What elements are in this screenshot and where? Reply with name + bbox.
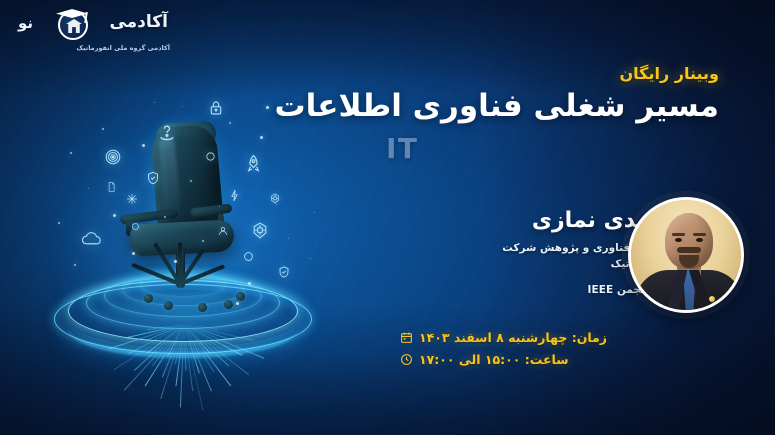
sparkle <box>182 106 183 107</box>
schedule-block: زمان: چهارشنبه ۸ اسفند ۱۴۰۳ساعت: ۱۵:۰۰ ا… <box>400 330 607 374</box>
kicker-free-webinar: وبینار رایگان <box>620 64 719 83</box>
schedule-line: ساعت: ۱۵:۰۰ الی ۱۷:۰۰ <box>400 352 607 367</box>
avatar-brow <box>693 233 706 236</box>
rocket-icon <box>246 154 261 173</box>
sparkle <box>266 106 269 109</box>
graduation-cap-icon <box>52 4 92 20</box>
logo-word-left: نو <box>18 14 33 32</box>
office-chair <box>106 126 256 316</box>
schedule-text: ساعت: ۱۵:۰۰ الی ۱۷:۰۰ <box>419 352 569 367</box>
schedule-text: زمان: چهارشنبه ۸ اسفند ۱۴۰۳ <box>419 330 607 345</box>
sparkle <box>102 128 104 130</box>
sparkle <box>229 122 231 124</box>
lock-icon <box>208 100 224 116</box>
avatar-eye <box>675 238 682 242</box>
brand-tagline: آکادمی گروه ملی انفورماتیک <box>76 44 170 52</box>
fingerprint-icon <box>104 148 122 166</box>
logo-word-right: آکادمی <box>109 12 168 32</box>
chair-caster <box>144 294 153 303</box>
chair-caster <box>198 303 207 312</box>
speaker-avatar <box>628 197 744 313</box>
shield-icon <box>277 265 291 279</box>
sparkle <box>314 212 315 213</box>
circuit-traces <box>12 306 356 392</box>
webinar-poster: آکادمی نو آکادمی گروه ملی انفورماتیک <box>0 0 775 435</box>
snowflake-icon <box>126 193 138 205</box>
chair-caster <box>164 301 173 310</box>
circle-icon <box>131 222 140 231</box>
avatar-eye <box>696 238 703 242</box>
schedule-line: زمان: چهارشنبه ۸ اسفند ۱۴۰۳ <box>400 330 607 345</box>
logo-lockup: آکادمی نو <box>14 10 174 42</box>
avatar-moustache <box>677 247 701 253</box>
question-mark-icon <box>157 122 177 142</box>
avatar-lapel-pin <box>709 296 715 302</box>
brand-logo[interactable]: آکادمی نو آکادمی گروه ملی انفورماتیک <box>14 10 174 58</box>
avatar-brow <box>672 233 685 236</box>
chair-caster <box>236 292 245 301</box>
bolt-icon <box>230 189 239 202</box>
document-icon <box>107 182 115 193</box>
circle-icon <box>205 151 216 162</box>
clock-icon <box>400 353 413 366</box>
cloud-icon <box>80 230 104 247</box>
chip-icon <box>270 193 280 204</box>
circle-icon <box>243 251 255 263</box>
hero-illustration <box>14 92 354 392</box>
calendar-icon <box>400 331 413 344</box>
page-title: مسیر شغلی فناوری اطلاعات <box>274 88 719 124</box>
shield-icon <box>145 170 160 185</box>
user-icon <box>217 225 228 236</box>
chip-icon <box>252 222 268 239</box>
sparkle <box>154 102 155 103</box>
chair-caster <box>224 300 233 309</box>
title-subtitle-it: IT <box>386 132 419 165</box>
